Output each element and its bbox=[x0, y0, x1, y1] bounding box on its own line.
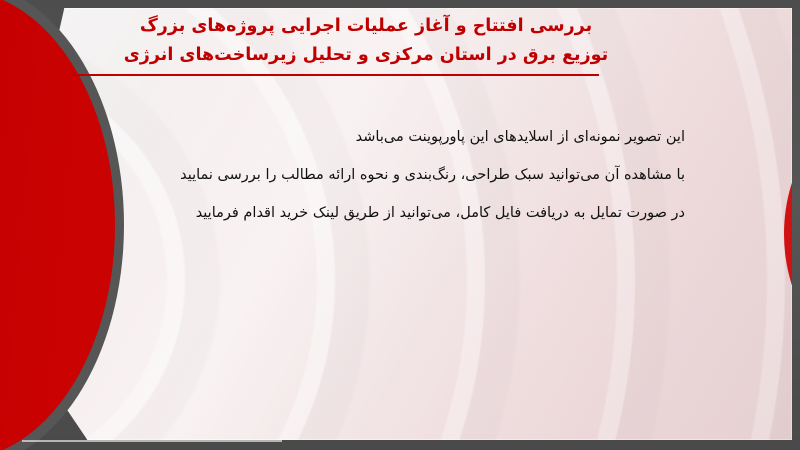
slide-title-line-1: بررسی افتتاح و آغاز عملیات اجرایی پروژه‌… bbox=[60, 12, 672, 41]
title-underline-rule bbox=[72, 74, 599, 76]
body-line-3: در صورت تمایل به دریافت فایل کامل، می‌تو… bbox=[60, 194, 685, 232]
body-line-1: این تصویر نمونه‌ای از اسلایدهای این پاور… bbox=[60, 118, 685, 156]
slide-body: این تصویر نمونه‌ای از اسلایدهای این پاور… bbox=[60, 118, 685, 232]
body-line-2: با مشاهده آن می‌توانید سبک طراحی، رنگ‌بن… bbox=[60, 156, 685, 194]
red-ellipse-right-icon bbox=[784, 106, 792, 362]
slide-title: بررسی افتتاح و آغاز عملیات اجرایی پروژه‌… bbox=[60, 12, 672, 76]
slide-title-line-2: توزیع برق در استان مرکزی و تحلیل زیرساخت… bbox=[60, 41, 672, 70]
presentation-slide: بررسی افتتاح و آغاز عملیات اجرایی پروژه‌… bbox=[0, 0, 800, 450]
